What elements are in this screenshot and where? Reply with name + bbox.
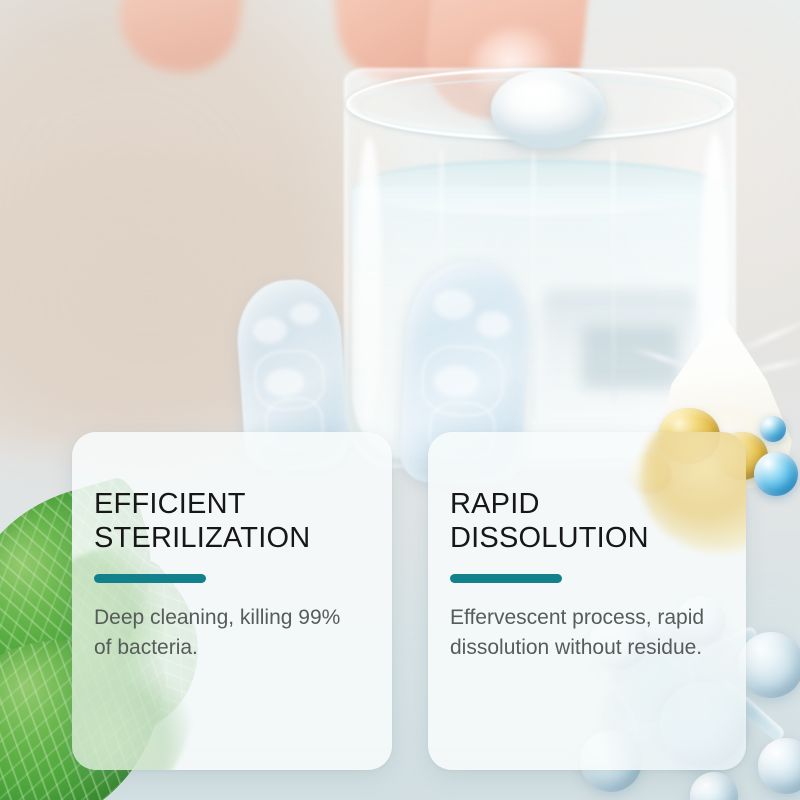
feature-card-rapid-dissolution[interactable]: RAPID DISSOLUTION Effervescent process, … xyxy=(428,432,746,770)
glass-highlight-left xyxy=(356,136,382,436)
aligner-texture xyxy=(289,302,320,326)
cream-wisp xyxy=(631,346,693,370)
aligner-texture xyxy=(433,288,475,320)
aligner-texture xyxy=(252,316,288,344)
cream-wisp xyxy=(733,317,800,356)
blue-sphere xyxy=(760,416,786,442)
feature-card-title: EFFICIENT STERILIZATION xyxy=(94,488,362,556)
molecule-atom xyxy=(738,632,800,698)
feature-card-content: RAPID DISSOLUTION Effervescent process, … xyxy=(428,432,746,662)
feature-card-content: EFFICIENT STERILIZATION Deep cleaning, k… xyxy=(72,432,392,662)
feature-card-description: Effervescent process, rapid dissolution … xyxy=(450,603,716,663)
product-feature-banner: EFFICIENT STERILIZATION Deep cleaning, k… xyxy=(0,0,800,800)
accent-bar xyxy=(94,574,206,583)
water-surface xyxy=(354,160,726,216)
feature-card-title: RAPID DISSOLUTION xyxy=(450,488,716,556)
molecule-atom xyxy=(690,772,738,800)
feature-card-description: Deep cleaning, killing 99% of bacteria. xyxy=(94,603,362,663)
accent-bar xyxy=(450,574,562,583)
aligner-texture xyxy=(476,311,511,339)
blue-sphere xyxy=(754,452,798,496)
feature-card-efficient-sterilization[interactable]: EFFICIENT STERILIZATION Deep cleaning, k… xyxy=(72,432,392,770)
tablet-highlight xyxy=(512,80,570,106)
glass-edge-line-3 xyxy=(612,150,615,404)
molecule-atom xyxy=(758,738,800,794)
glass-edge-line-2 xyxy=(532,150,535,418)
